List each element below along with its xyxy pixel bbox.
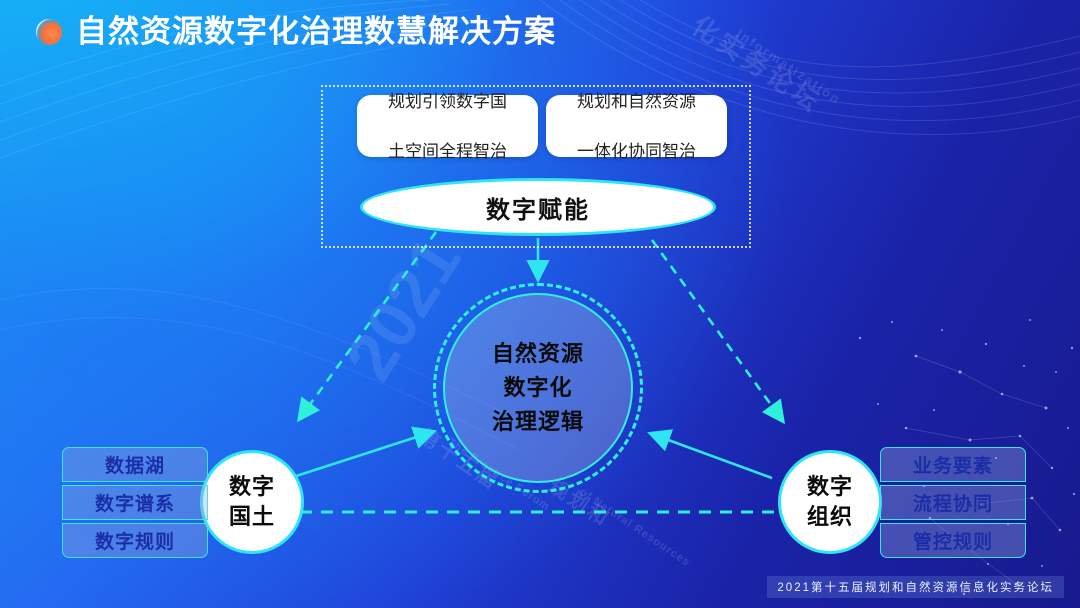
tag-stack-right: 业务要素 流程协同 管控规则 [880,447,1026,558]
node-left-line-1: 数字 [229,472,275,502]
node-right-line-2: 组织 [807,502,853,532]
watermark-text: of Natural Resources [577,486,692,569]
tag-item[interactable]: 管控规则 [880,523,1026,558]
tag-stack-left: 数据湖 数字谱系 数字规则 [62,447,208,558]
strategy-pill-integrated-coordination[interactable]: 规划和自然资源 一体化协同智治 [546,95,727,157]
tag-item[interactable]: 数据湖 [62,447,208,482]
core-line-2: 数字化 [503,371,572,405]
slide-canvas: 自然资源数字化治理数慧解决方案 化实务论坛 Informatization 20… [0,0,1080,608]
core-line-1: 自然资源 [492,337,584,371]
page-title: 自然资源数字化治理数慧解决方案 [36,16,556,47]
pill-line-2: 土空间全程智治 [388,139,507,164]
pill-line-1: 规划和自然资源 [577,89,696,114]
tag-item[interactable]: 数字谱系 [62,485,208,520]
node-left-line-2: 国土 [229,502,275,532]
core-governance-logic[interactable]: 自然资源 数字化 治理逻辑 [443,293,633,483]
pill-line-2: 一体化协同智治 [577,139,696,164]
tag-item[interactable]: 业务要素 [880,447,1026,482]
orange-dot-icon [36,19,62,45]
digital-empowerment-ellipse[interactable]: 数字赋能 [360,178,716,236]
node-digital-land[interactable]: 数字 国土 [200,450,304,554]
page-title-text: 自然资源数字化治理数慧解决方案 [76,16,556,47]
node-right-line-1: 数字 [807,472,853,502]
pill-line-1: 规划引领数字国 [388,89,507,114]
node-digital-organization[interactable]: 数字 组织 [778,450,882,554]
tag-item[interactable]: 数字规则 [62,523,208,558]
tag-item[interactable]: 流程协同 [880,485,1026,520]
core-line-3: 治理逻辑 [492,405,584,439]
strategy-pill-planning-led[interactable]: 规划引领数字国 土空间全程智治 [357,95,538,157]
digital-empowerment-label: 数字赋能 [486,190,590,225]
footer-conference-label: 2021第十五届规划和自然资源信息化实务论坛 [767,576,1064,598]
